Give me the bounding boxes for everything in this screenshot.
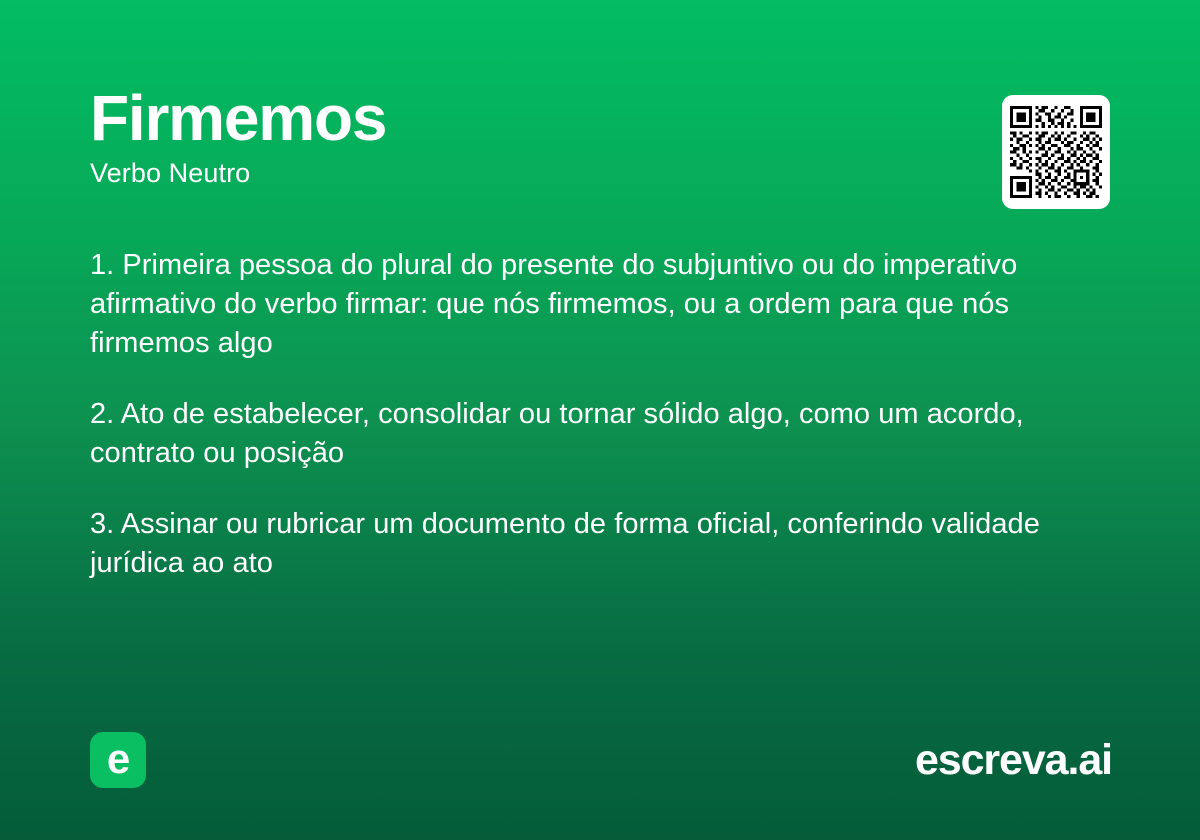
card-header: Firmemos Verbo Neutro (90, 86, 970, 189)
definition-item: 1. Primeira pessoa do plural do presente… (90, 246, 1115, 363)
definition-item: 3. Assinar ou rubricar um documento de f… (90, 505, 1115, 583)
brand-logo: e (90, 732, 146, 788)
page-title: Firmemos (90, 86, 970, 151)
qr-code-icon (1010, 104, 1102, 200)
card-footer: e escreva.ai (0, 732, 1200, 788)
definition-list: 1. Primeira pessoa do plural do presente… (90, 246, 1115, 583)
word-class-label: Verbo Neutro (90, 159, 970, 189)
qr-code[interactable] (1002, 95, 1110, 209)
brand-name: escreva.ai (915, 734, 1112, 786)
definition-card: Firmemos Verbo Neutro (0, 0, 1200, 840)
definition-item: 2. Ato de estabelecer, consolidar ou tor… (90, 395, 1115, 473)
brand-logo-letter: e (107, 738, 129, 780)
